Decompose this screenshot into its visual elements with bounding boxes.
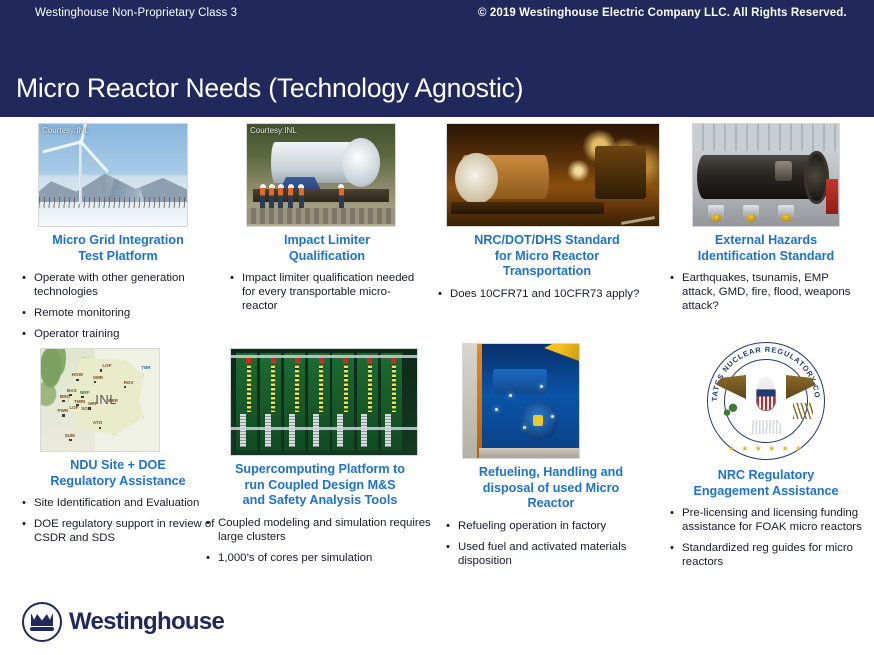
bullet-glyph: • [436, 287, 450, 301]
rail-transport-cask-photo: Courtesy:INL [246, 123, 396, 227]
list-item: • Refueling operation in factory [444, 519, 658, 533]
card-supercomputing-platform: Supercomputing Platform to run Coupled D… [204, 342, 436, 572]
copyright-notice: © 2019 Westinghouse Electric Company LLC… [478, 7, 847, 19]
bullet-glyph: • [204, 551, 218, 565]
bullet-list: • Does 10CFR71 and 10CFR73 apply? [436, 287, 658, 301]
card-heading: Micro Grid Integration Test Platform [20, 233, 216, 264]
bullet-glyph: • [204, 516, 218, 544]
list-item: • Operator training [20, 327, 216, 341]
card-heading: NDU Site + DOE Regulatory Assistance [20, 458, 216, 489]
bullet-list: • Coupled modeling and simulation requir… [204, 516, 436, 565]
bullet-list: • Operate with other generation technolo… [20, 271, 216, 341]
card-heading: External Hazards Identification Standard [668, 233, 864, 264]
card-external-hazards-standard: External Hazards Identification Standard… [668, 117, 864, 320]
list-item: • Remote monitoring [20, 306, 216, 320]
needs-grid: Courtesy:INL Micro Grid Integration Test… [0, 117, 874, 655]
card-heading: Impact Limiter Qualification [228, 233, 426, 264]
card-heading: NRC Regulatory Engagement Assistance [668, 468, 864, 499]
bullet-glyph: • [668, 271, 682, 313]
list-item: • Impact limiter qualification needed fo… [228, 271, 426, 313]
nrc-official-seal: UNITED STATES NUCLEAR REGULATORY COMMISS… [707, 342, 825, 460]
list-item: • Pre-licensing and licensing funding as… [668, 506, 864, 534]
bullet-glyph: • [20, 517, 34, 545]
bullet-list: • Earthquakes, tsunamis, EMP attack, GMD… [668, 271, 864, 313]
card-micro-grid-integration: Courtesy:INL Micro Grid Integration Test… [20, 117, 216, 348]
list-item: • Operate with other generation technolo… [20, 271, 216, 299]
card-heading: NRC/DOT/DHS Standard for Micro Reactor T… [436, 233, 658, 280]
bullet-glyph: • [20, 327, 34, 341]
list-item: • Does 10CFR71 and 10CFR73 apply? [436, 287, 658, 301]
refueling-pool-photo [462, 343, 580, 459]
card-heading: Supercomputing Platform to run Coupled D… [204, 462, 436, 509]
bullet-glyph: • [20, 271, 34, 299]
bullet-glyph: • [668, 541, 682, 569]
bullet-glyph: • [20, 496, 34, 510]
card-impact-limiter-qualification: Courtesy:INL Impact Limiter Qualificatio… [228, 117, 426, 320]
seal-stars: ★ ★ ★ ★ ★ ★ [707, 444, 825, 453]
inl-site-map: INL LOF SMR HOW RGV TBR BAS BRG NRF TMRI… [40, 348, 160, 452]
card-heading: Refueling, Handling and disposal of used… [444, 465, 658, 512]
logo-wordmark: Westinghouse [69, 608, 224, 636]
list-item: • DOE regulatory support in review of CS… [20, 517, 216, 545]
bullet-glyph: • [444, 540, 458, 568]
bullet-list: • Pre-licensing and licensing funding as… [668, 506, 864, 569]
bullet-glyph: • [20, 306, 34, 320]
bullet-glyph: • [228, 271, 242, 313]
bullet-glyph: • [668, 506, 682, 534]
courtesy-label: Courtesy:INL [250, 126, 297, 135]
list-item: • Coupled modeling and simulation requir… [204, 516, 436, 544]
card-refueling-handling-disposal: Refueling, Handling and disposal of used… [444, 337, 658, 575]
supercomputer-boards-photo [230, 348, 418, 456]
bullet-list: • Refueling operation in factory • Used … [444, 519, 658, 568]
reactor-vessel-shop-photo [692, 123, 840, 227]
card-ndu-site-doe-regulatory: INL LOF SMR HOW RGV TBR BAS BRG NRF TMRI… [20, 342, 216, 552]
bullet-list: • Site Identification and Evaluation • D… [20, 496, 216, 545]
slide-header-band: Westinghouse Non-Proprietary Class 3 © 2… [0, 0, 874, 117]
courtesy-label: Courtesy:INL [42, 126, 89, 135]
list-item: • Site Identification and Evaluation [20, 496, 216, 510]
westinghouse-crown-icon [22, 602, 62, 642]
list-item: • Used fuel and activated materials disp… [444, 540, 658, 568]
card-nrc-regulatory-engagement: UNITED STATES NUCLEAR REGULATORY COMMISS… [668, 337, 864, 576]
westinghouse-logo: Westinghouse [22, 602, 224, 642]
list-item: • Earthquakes, tsunamis, EMP attack, GMD… [668, 271, 864, 313]
list-item: • Standardized reg guides for micro reac… [668, 541, 864, 569]
page-title: Micro Reactor Needs (Technology Agnostic… [16, 73, 523, 104]
card-nrc-dot-dhs-transport-standard: NRC/DOT/DHS Standard for Micro Reactor T… [436, 117, 658, 308]
bullet-list: • Impact limiter qualification needed fo… [228, 271, 426, 313]
list-item: • 1,000’s of cores per simulation [204, 551, 436, 565]
wind-turbine-photo: Courtesy:INL [38, 123, 188, 227]
bullet-glyph: • [444, 519, 458, 533]
highway-night-transport-photo [446, 123, 660, 227]
classification-label: Westinghouse Non-Proprietary Class 3 [35, 7, 237, 19]
